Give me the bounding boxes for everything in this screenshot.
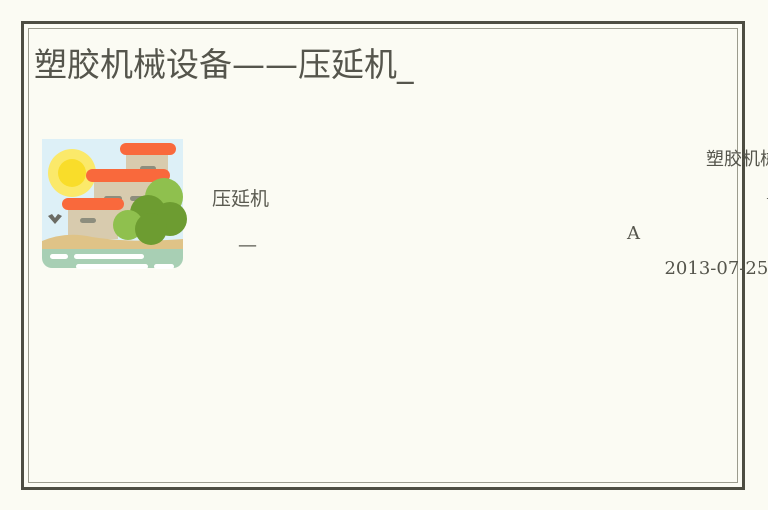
meta-line-letter-a-1: A bbox=[0, 184, 768, 204]
meta-line-letter-a-2: A bbox=[0, 224, 640, 244]
meta-line-date-source: 2013-07-25 体博 bbox=[0, 259, 768, 279]
meta-line-product-name: 塑胶机械设备 bbox=[0, 150, 768, 170]
meta-column: 塑胶机械设备 A A 2013-07-25 体博 产品 bbox=[0, 150, 768, 315]
page-title: 塑胶机械设备——压延机_ bbox=[34, 45, 414, 85]
meta-line-category: 产品 bbox=[0, 295, 768, 315]
